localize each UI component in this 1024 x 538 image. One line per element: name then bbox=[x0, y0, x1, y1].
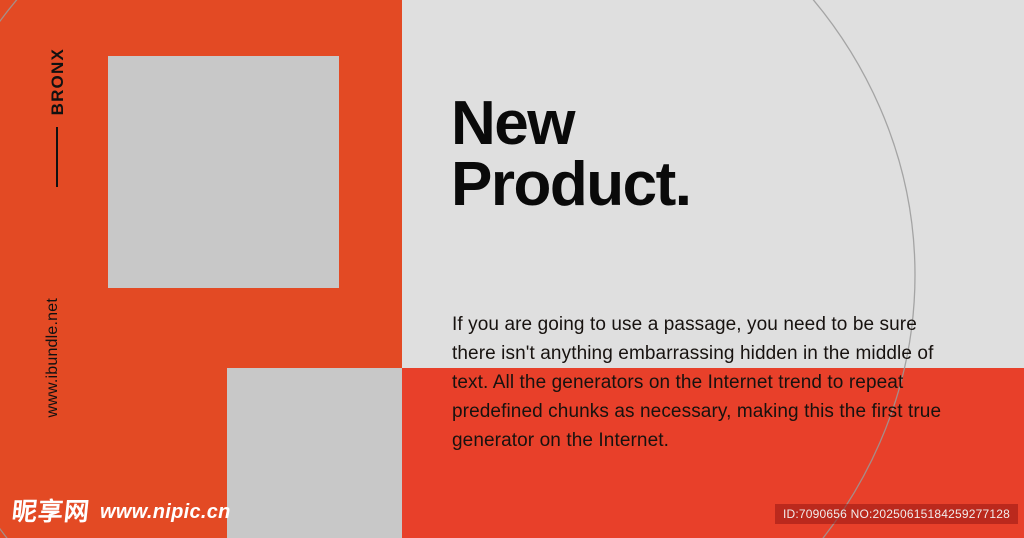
image-placeholder-top bbox=[108, 56, 339, 288]
page-title: New Product. bbox=[451, 94, 971, 216]
brand-vertical-block: BRONX bbox=[42, 48, 72, 218]
brand-name: BRONX bbox=[49, 48, 66, 115]
watermark-url: www.nipic.cn bbox=[100, 502, 231, 522]
brand-rule-divider bbox=[56, 127, 58, 187]
body-paragraph: If you are going to use a passage, you n… bbox=[452, 310, 952, 455]
nipic-watermark: 昵享网 www.nipic.cn bbox=[12, 499, 231, 524]
headline-line-2: Product. bbox=[451, 155, 971, 216]
headline-line-1: New bbox=[451, 89, 574, 158]
watermark-logo-text: 昵享网 bbox=[11, 499, 92, 524]
image-placeholder-bottom bbox=[227, 368, 402, 538]
poster-canvas: BRONX www.ibundle.net New Product. If yo… bbox=[0, 0, 1024, 538]
stock-id-badge: ID:7090656 NO:20250615184259277128 bbox=[775, 504, 1018, 524]
brand-website: www.ibundle.net bbox=[44, 298, 62, 418]
